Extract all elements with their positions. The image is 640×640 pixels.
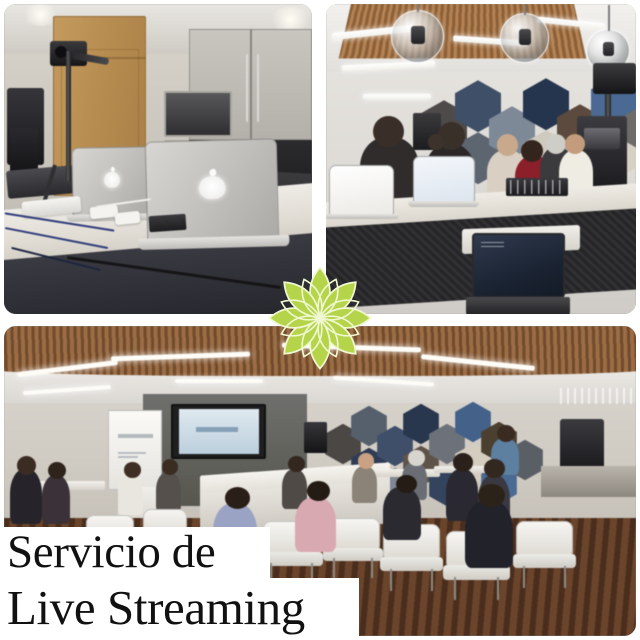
attendee-seated — [295, 497, 336, 553]
tripod-column — [66, 51, 71, 181]
attendee-head — [373, 116, 404, 147]
glass-rack — [560, 388, 636, 404]
screen-content — [179, 409, 259, 455]
attendee-head — [428, 134, 444, 150]
chair-leg — [523, 566, 525, 588]
attendee-head — [124, 462, 140, 478]
event-room-scene — [326, 4, 636, 314]
attendee-seated — [465, 500, 512, 568]
microwave-oven — [164, 91, 232, 138]
attendee-head — [478, 484, 505, 507]
back-bar-counter — [541, 466, 636, 497]
laptop-base — [326, 214, 399, 219]
kitchen-scene — [4, 4, 312, 314]
panel-kitchen-studio — [4, 4, 312, 314]
attendee-head — [162, 459, 178, 475]
chair-leg — [390, 569, 392, 591]
attendee — [42, 475, 70, 525]
laptop — [413, 156, 475, 203]
laptop — [329, 165, 394, 215]
laptop-lid — [413, 156, 475, 203]
globe-pendant-lamp — [500, 13, 550, 63]
attendee-head — [521, 140, 543, 162]
attendee — [156, 472, 181, 512]
attendee-head — [565, 134, 585, 154]
presentation-screen — [171, 404, 266, 460]
apple-logo-icon — [198, 176, 225, 200]
laptop-base — [466, 297, 570, 314]
laptop-base — [408, 201, 479, 206]
chair-leg — [454, 577, 456, 600]
cabinet-handle — [246, 54, 248, 122]
attendee — [118, 475, 143, 515]
power-adapter — [114, 210, 140, 225]
attendee-head — [358, 453, 374, 469]
attendee-seated — [383, 487, 421, 540]
laptop-lid — [329, 165, 394, 215]
attendee-head — [453, 453, 473, 472]
banner-text-line — [118, 452, 146, 454]
title-line1-text: Servicio de — [7, 529, 215, 576]
wood-slat-ceiling — [4, 326, 636, 376]
cabinet-handle — [257, 54, 259, 122]
attendee-head — [408, 450, 424, 466]
lamp-cord — [524, 4, 526, 15]
video-camera — [593, 63, 636, 94]
title-band-line1: Servicio de — [0, 527, 270, 578]
globe-pendant-lamp — [391, 10, 444, 63]
wall-speaker — [304, 422, 327, 453]
attendee — [10, 469, 42, 525]
attendee — [352, 466, 377, 503]
chair-back — [516, 521, 573, 555]
attendee-head — [497, 134, 519, 156]
attendee-head — [484, 459, 504, 478]
strip-light — [175, 379, 263, 383]
apple-logo-icon — [104, 171, 120, 188]
title-line2-text: Live Streaming — [7, 583, 305, 632]
chair-leg — [497, 577, 499, 600]
chair-leg — [564, 566, 566, 588]
chair-leg — [333, 558, 335, 578]
banner-text-line — [118, 456, 139, 458]
lamp-cord — [608, 5, 610, 31]
laptop-screen — [472, 233, 565, 298]
attendee-head — [288, 456, 304, 472]
lamp-cord — [417, 4, 419, 12]
title-band-line2: Live Streaming — [0, 578, 359, 636]
signal-converter — [148, 214, 186, 232]
audio-mixer — [506, 178, 568, 197]
panel-event-room — [326, 4, 636, 314]
presenter-head — [497, 425, 515, 442]
cabinet-divider — [250, 29, 252, 141]
chair-leg — [431, 569, 433, 591]
windows-laptop — [472, 233, 565, 298]
attendee-head — [17, 456, 36, 475]
chair-leg — [371, 558, 373, 578]
audience-chair — [516, 521, 573, 586]
photo-collage: Servicio de Live Streaming — [0, 0, 640, 640]
